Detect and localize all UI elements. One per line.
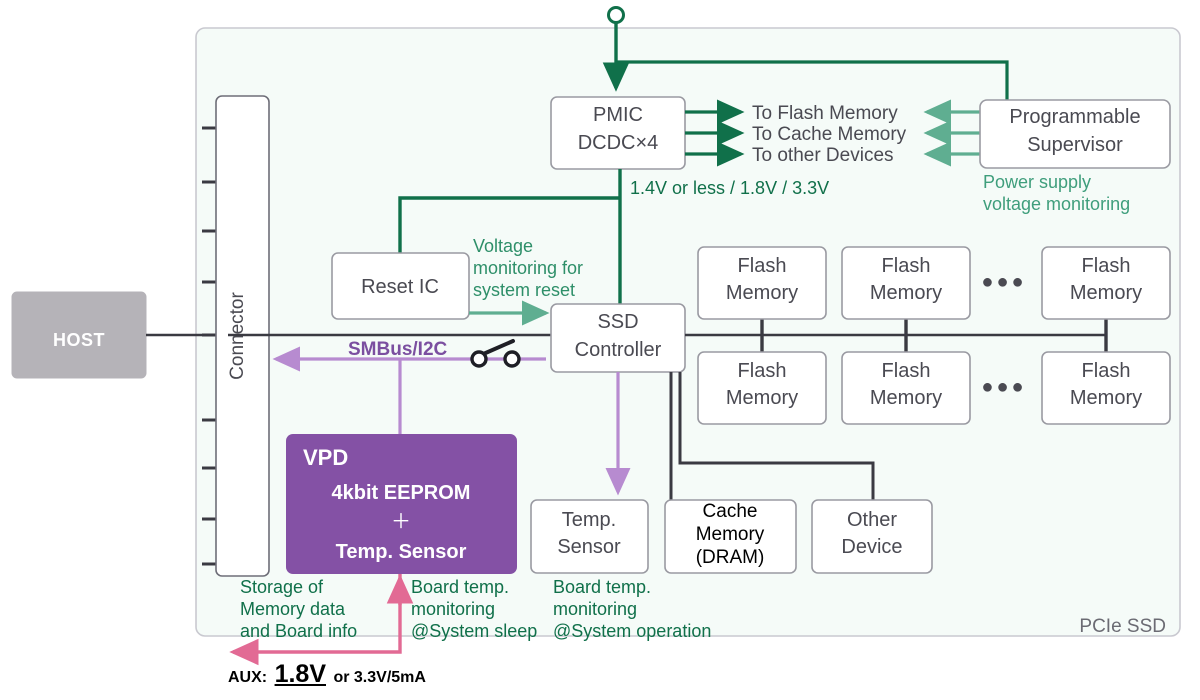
- pmic-output-label-0: To Flash Memory: [752, 103, 898, 124]
- aux-prefix-label: AUX:: [228, 669, 267, 686]
- pmic-label-line2: DCDC×4: [578, 132, 659, 154]
- power-supply-monitor-note-l2: voltage monitoring: [983, 194, 1130, 214]
- aux-caption: AUX: 1.8V or 3.3V/5mA: [228, 660, 426, 689]
- flash-label-bottom-2-l2: Memory: [1070, 387, 1142, 409]
- diagram-canvas: HOST Connector PMIC DCDC×4 To Flash Memo…: [0, 0, 1200, 700]
- flash-ellipsis-bottom: ●●●: [981, 376, 1026, 398]
- flash-label-bottom-0-l2: Memory: [726, 387, 798, 409]
- cache-memory-label-line3: (DRAM): [696, 547, 765, 568]
- supervisor-label-line2: Supervisor: [1027, 134, 1123, 156]
- pcie-ssd-label: PCIe SSD: [1079, 616, 1166, 637]
- voltage-monitor-note-l3: system reset: [473, 280, 575, 300]
- vpd-label-line1: VPD: [303, 445, 348, 470]
- power-supply-monitor-note-l1: Power supply: [983, 172, 1091, 192]
- vpd-label-line2: 4kbit EEPROM: [332, 482, 471, 504]
- flash-label-bottom-2-l1: Flash: [1082, 360, 1131, 382]
- flash-label-top-0-l2: Memory: [726, 282, 798, 304]
- pmic-output-label-2: To other Devices: [752, 145, 894, 166]
- voltage-monitor-note-l2: monitoring for: [473, 258, 583, 278]
- board-oper-note-l1: Board temp.: [553, 577, 651, 597]
- ssd-controller-label-line1: SSD: [597, 311, 638, 333]
- power-input-terminal: [609, 8, 624, 23]
- reset-ic-label: Reset IC: [361, 276, 439, 298]
- vpd-label-line3: Temp. Sensor: [336, 541, 467, 563]
- smbus-label: SMBus/I2C: [348, 339, 448, 360]
- flash-label-bottom-1-l1: Flash: [882, 360, 931, 382]
- voltage-rails-label: 1.4V or less / 1.8V / 3.3V: [630, 178, 829, 198]
- board-sleep-note-l2: monitoring: [411, 599, 495, 619]
- board-oper-note-l2: monitoring: [553, 599, 637, 619]
- flash-label-top-2-l2: Memory: [1070, 282, 1142, 304]
- flash-label-top-2-l1: Flash: [1082, 255, 1131, 277]
- board-sleep-note-l1: Board temp.: [411, 577, 509, 597]
- cache-memory-label-line1: Cache: [703, 501, 758, 522]
- other-device-label-line1: Other: [847, 509, 897, 531]
- host-label: HOST: [53, 330, 105, 350]
- flash-label-top-1-l2: Memory: [870, 282, 942, 304]
- storage-note-l3: and Board info: [240, 621, 357, 641]
- other-device-label-line2: Device: [841, 536, 902, 558]
- storage-note-l1: Storage of: [240, 577, 324, 597]
- pmic-label-line1: PMIC: [593, 104, 643, 126]
- board-sleep-note-l3: @System sleep: [411, 621, 537, 641]
- flash-label-top-1-l1: Flash: [882, 255, 931, 277]
- flash-label-bottom-1-l2: Memory: [870, 387, 942, 409]
- temp-sensor-label-line2: Sensor: [557, 536, 621, 558]
- temp-sensor-label-line1: Temp.: [562, 509, 616, 531]
- vpd-plus-sign: ＋: [391, 511, 411, 533]
- block-diagram-svg: HOST Connector PMIC DCDC×4 To Flash Memo…: [0, 0, 1200, 700]
- aux-primary-value: 1.8V: [275, 660, 326, 688]
- flash-ellipsis-top: ●●●: [981, 271, 1026, 293]
- flash-label-top-0-l1: Flash: [738, 255, 787, 277]
- voltage-monitor-note-l1: Voltage: [473, 236, 533, 256]
- pmic-output-label-1: To Cache Memory: [752, 124, 907, 145]
- aux-suffix-label: or 3.3V/5mA: [333, 669, 425, 686]
- ssd-controller-label-line2: Controller: [575, 339, 662, 361]
- storage-note-l2: Memory data: [240, 599, 346, 619]
- cache-memory-label-line2: Memory: [696, 524, 765, 545]
- flash-label-bottom-0-l1: Flash: [738, 360, 787, 382]
- board-oper-note-l3: @System operation: [553, 621, 711, 641]
- supervisor-label-line1: Programmable: [1009, 106, 1140, 128]
